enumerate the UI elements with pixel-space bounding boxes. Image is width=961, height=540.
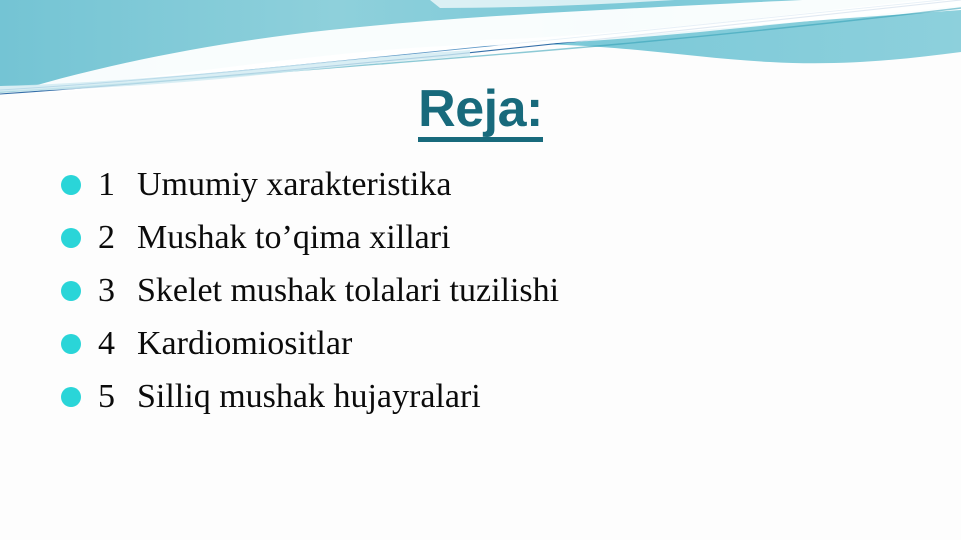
list-item: 4 Kardiomiositlar (58, 317, 938, 370)
list-item: 3 Skelet mushak tolalari tuzilishi (58, 264, 938, 317)
page-title: Reja: (418, 82, 543, 142)
slide-title-container: Reja: (0, 82, 961, 142)
list-item-label: Mushak to’qima xillari (137, 211, 451, 264)
list-item: 1 Umumiy xarakteristika (58, 158, 938, 211)
list-item-label: Umumiy xarakteristika (137, 158, 451, 211)
banner-teal-band (0, 0, 961, 86)
list-item-number: 3 (98, 264, 118, 317)
presentation-slide: Reja: 1 Umumiy xarakteristika 2 Mushak t… (0, 0, 961, 540)
banner-white-ribbon-upper (480, 0, 961, 46)
list-item-number: 1 (98, 158, 118, 211)
list-item-label: Kardiomiositlar (137, 317, 352, 370)
list-item: 5 Silliq mushak hujayralari (58, 370, 938, 423)
bullet-dot-icon (61, 334, 81, 354)
list-item-number: 2 (98, 211, 118, 264)
list-item-number: 5 (98, 370, 118, 423)
bullet-dot-icon (61, 228, 81, 248)
list-item-label: Silliq mushak hujayralari (137, 370, 481, 423)
list-item: 2 Mushak to’qima xillari (58, 211, 938, 264)
list-item-number: 4 (98, 317, 118, 370)
bullet-dot-icon (61, 281, 81, 301)
agenda-list: 1 Umumiy xarakteristika 2 Mushak to’qima… (58, 158, 938, 423)
bullet-dot-icon (61, 175, 81, 195)
banner-blue-hairline-2 (0, 0, 961, 90)
bullet-dot-icon (61, 387, 81, 407)
banner-white-arc-top (430, 0, 760, 8)
list-item-label: Skelet mushak tolalari tuzilishi (137, 264, 559, 317)
